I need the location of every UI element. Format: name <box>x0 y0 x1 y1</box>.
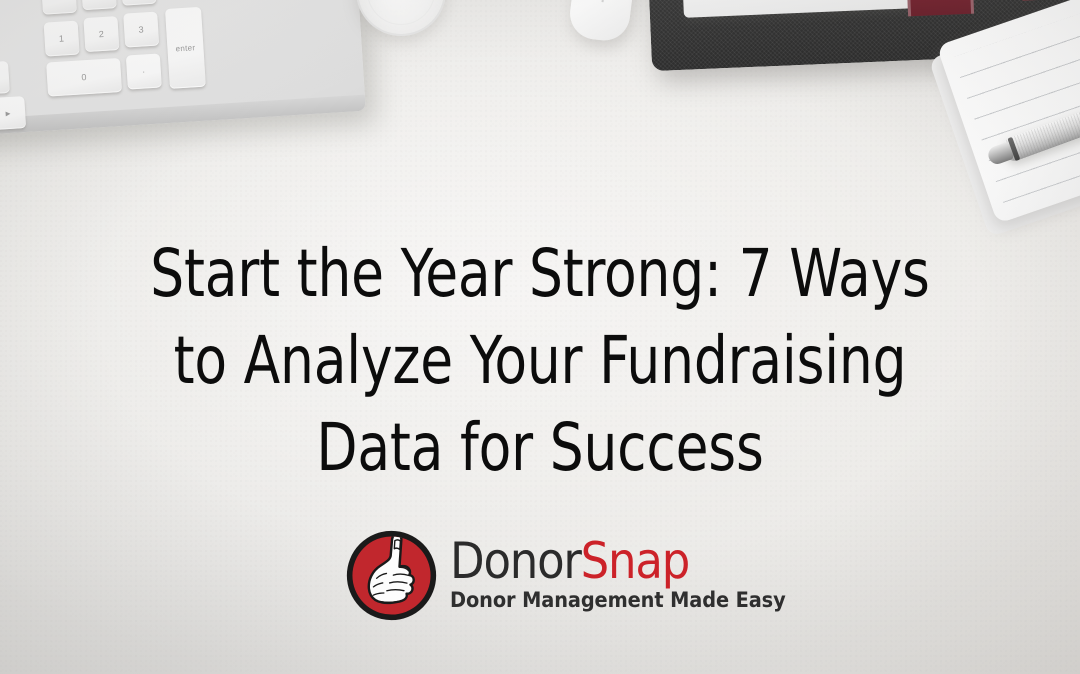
logo-text-block: DonorSnap Donor Management Made Easy <box>450 536 786 615</box>
logo-word-snap: Snap <box>581 532 689 590</box>
headline-line-1: Start the Year Strong: 7 Ways <box>54 230 1026 317</box>
donorsnap-logo[interactable]: DonorSnap Donor Management Made Easy <box>345 527 735 623</box>
logo-tagline: Donor Management Made Easy <box>450 589 786 613</box>
blog-header-banner: 1 2 3 0 · enter ▲ ▼ ► Start the <box>0 0 1080 674</box>
headline-line-2: to Analyze Your Fundraising <box>54 317 1026 404</box>
logo-word-donor: Donor <box>450 532 581 590</box>
page-title: Start the Year Strong: 7 Ways to Analyze… <box>54 230 1026 491</box>
logo-wordmark: DonorSnap <box>450 536 786 586</box>
pointing-hand-in-red-circle-icon <box>345 529 438 622</box>
headline-line-3: Data for Success <box>54 404 1026 491</box>
